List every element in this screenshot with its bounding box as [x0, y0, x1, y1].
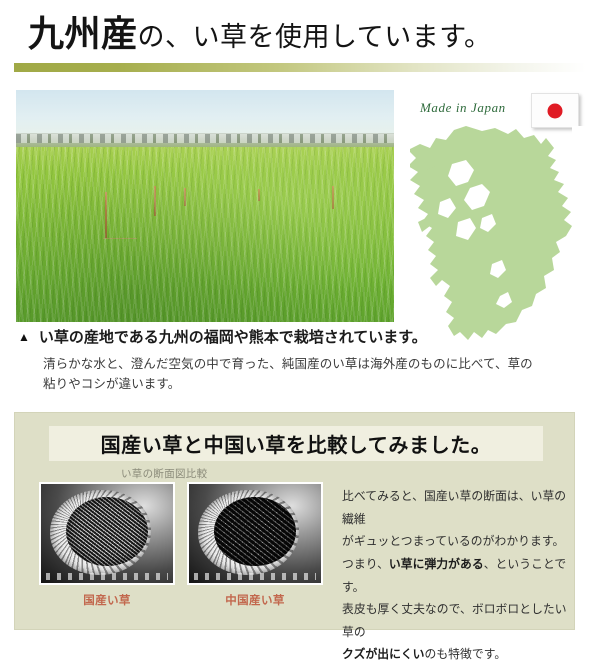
flag-red-disc	[548, 103, 563, 118]
kyushu-map-icon	[396, 126, 586, 348]
domestic-igusa-micrograph	[39, 482, 175, 585]
micrograph-label-domestic: 国産い草	[39, 592, 175, 608]
micrograph-figure: 国産い草	[39, 482, 175, 608]
comparison-line-pre: つまり、	[342, 557, 389, 571]
field-wire	[103, 238, 137, 239]
micrograph-figure-group: 国産い草 中国産い草	[39, 482, 323, 608]
comparison-title-band: 国産い草と中国い草を比較してみました。	[49, 426, 543, 461]
origin-caption-body: 清らかな水と、澄んだ空気の中で育った、純国産のい草は海外産のものに比べて、草の粘…	[43, 354, 538, 395]
origin-caption-headline-row: ▲ い草の産地である九州の福岡や熊本で栽培されています。	[18, 328, 538, 348]
made-in-japan-label: Made in Japan	[420, 100, 506, 116]
origin-caption: ▲ い草の産地である九州の福岡や熊本で栽培されています。 清らかな水と、澄んだ空…	[18, 328, 538, 394]
comparison-subcaption: い草の断面図比較	[121, 466, 207, 481]
origin-section: Made in Japan	[0, 80, 600, 410]
micrograph-scalebar	[46, 573, 167, 580]
micrograph-scalebar	[194, 573, 315, 580]
micrograph-figure: 中国産い草	[187, 482, 323, 608]
comparison-title: 国産い草と中国い草を比較してみました。	[101, 429, 492, 458]
comparison-description: 比べてみると、国産い草の断面は、い草の繊維 がギュッとつまっているのがわかります…	[342, 485, 570, 666]
comparison-line: 表皮も厚く丈夫なので、ボロボロとしたい草の	[342, 598, 570, 643]
comparison-emphasis-debris: クズが出にくい	[342, 647, 424, 661]
photo-distant-village	[16, 133, 394, 148]
igusa-field-photo	[16, 90, 394, 322]
page-header: 九州産の、い草を使用しています。	[0, 0, 600, 80]
comparison-panel: 国産い草と中国い草を比較してみました。 い草の断面図比較 国産い草 中国産い草 …	[14, 412, 575, 630]
page-title: 九州産の、い草を使用しています。	[28, 16, 492, 52]
chinese-igusa-micrograph	[187, 482, 323, 585]
page-title-strong: 九州産	[28, 14, 138, 54]
field-stake	[154, 186, 156, 216]
comparison-line: クズが出にくいのも特徴です。	[342, 643, 570, 666]
page-title-rest: の、い草を使用しています。	[138, 22, 492, 52]
micrograph-label-chinese: 中国産い草	[187, 592, 323, 608]
triangle-bullet-icon: ▲	[18, 331, 30, 343]
origin-caption-headline: い草の産地である九州の福岡や熊本で栽培されています。	[39, 328, 427, 348]
field-stake	[332, 186, 334, 209]
comparison-line: がギュッとつまっているのがわかります。	[342, 530, 570, 553]
japan-flag-icon	[531, 93, 579, 128]
title-underline-rule	[14, 63, 586, 72]
photo-rush-field	[16, 147, 394, 322]
comparison-emphasis-elasticity: い草に弾力がある	[389, 557, 484, 571]
comparison-line: つまり、い草に弾力がある、ということです。	[342, 553, 570, 598]
comparison-line: 比べてみると、国産い草の断面は、い草の繊維	[342, 485, 570, 530]
micrograph-core	[66, 497, 148, 566]
field-stake	[184, 188, 186, 206]
comparison-line-post: のも特徴です。	[424, 647, 506, 661]
micrograph-core	[214, 497, 296, 566]
field-stake	[105, 192, 107, 238]
map-block: Made in Japan	[398, 98, 588, 360]
field-stake	[258, 189, 260, 201]
